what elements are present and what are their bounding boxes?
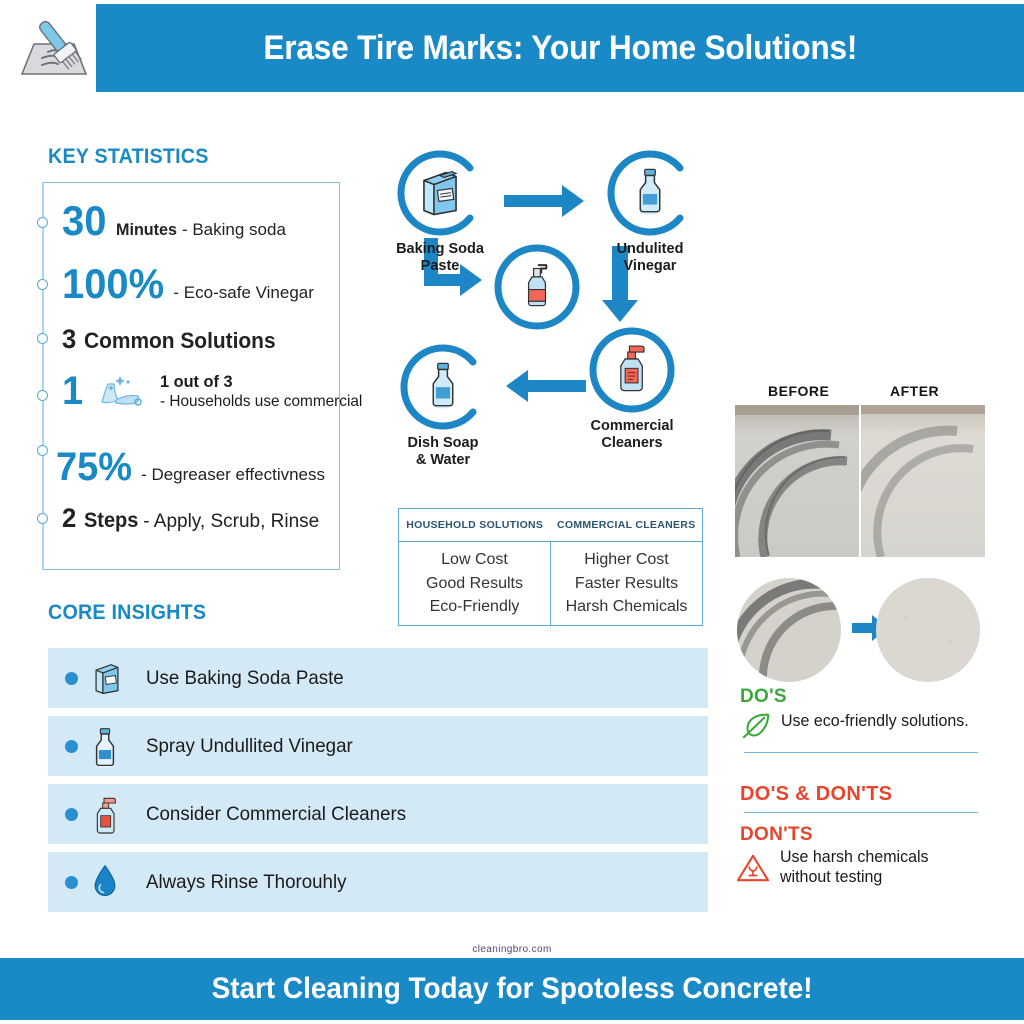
- page-title: Erase Tire Marks: Your Home Solutions!: [263, 29, 857, 68]
- table-cell-commercial: Higher Cost Faster Results Harsh Chemica…: [551, 542, 702, 625]
- stat-suffix: - Degreaser effectivness: [141, 465, 325, 485]
- insight-label: Use Baking Soda Paste: [146, 667, 344, 690]
- circle-after-photo: [876, 578, 980, 682]
- rail-dot: [37, 513, 48, 524]
- table-header-row: HOUSEHOLD SOLUTIONS COMMERCIAL CLEANERS: [399, 509, 702, 542]
- stat-number: 3: [62, 326, 76, 353]
- vinegar-bottle-icon: [92, 726, 126, 766]
- stat-number: 30: [62, 200, 106, 242]
- flow-node-dish-soap-water: Dish Soap & Water: [398, 342, 488, 432]
- stat-label: 1 out of 3: [160, 372, 362, 392]
- stat-suffix: - Baking soda: [182, 220, 286, 240]
- bullet-icon: [65, 672, 78, 685]
- stat-item-common-solutions: 3 Common Solutions: [62, 326, 286, 354]
- warning-triangle-icon: [736, 853, 770, 888]
- key-statistics-heading: KEY STATISTICS: [48, 145, 209, 169]
- sparkle-squeegee-icon: [90, 372, 152, 421]
- divider: [744, 812, 978, 813]
- donts-heading: DON'TS: [740, 824, 813, 846]
- baking-soda-box-icon: [92, 658, 126, 698]
- leaf-icon: [740, 712, 772, 745]
- arrow-baking-soda-to-vinegar: [504, 185, 584, 217]
- baking-soda-box-icon: [418, 165, 462, 222]
- bullet-icon: [65, 876, 78, 889]
- stat-item-degreaser: 75% - Degreaser effectivness: [56, 447, 325, 487]
- process-flow-diagram: Baking Soda Paste Undulite: [380, 140, 710, 470]
- stat-item-eco-safe: 100% - Eco-safe Vinegar: [62, 263, 314, 305]
- header-banner: Erase Tire Marks: Your Home Solutions!: [96, 4, 1024, 92]
- stat-label: Minutes: [116, 220, 177, 240]
- flow-node-label: Dish Soap & Water: [408, 435, 479, 468]
- stat-label: Common Solutions: [84, 328, 276, 354]
- table-cell-household: Low Cost Good Results Eco-Friendly: [399, 542, 551, 625]
- flow-node-undulited-vinegar: Undulited Vinegar: [605, 148, 695, 238]
- flow-node-pump-bottle: [492, 242, 582, 332]
- stat-label: Steps: [84, 509, 138, 533]
- stat-item-minutes: 30 Minutes - Baking soda: [62, 200, 286, 242]
- footer-banner: Start Cleaning Today for Spotoless Concr…: [0, 958, 1024, 1020]
- after-photo: [861, 405, 985, 557]
- footer-cta-text: Start Cleaning Today for Spotoless Concr…: [212, 972, 813, 1006]
- list-item[interactable]: Consider Commercial Cleaners: [48, 784, 708, 844]
- flow-node-label: Undulited Vinegar: [617, 241, 684, 274]
- spray-cleaner-bottle-icon: [92, 794, 126, 834]
- arrow-commercial-to-dish-soap: [506, 370, 586, 402]
- stat-number: 2: [62, 505, 76, 532]
- stat-suffix: - Apply, Scrub, Rinse: [143, 511, 319, 533]
- stat-suffix: - Households use commercial: [160, 393, 362, 411]
- dish-soap-bottle-icon: [428, 360, 458, 415]
- scrub-brush-icon: [8, 10, 94, 84]
- flow-node-label: Baking Soda Paste: [396, 241, 484, 274]
- infographic-page: Erase Tire Marks: Your Home Solutions! K…: [0, 0, 1024, 1024]
- rail-dot: [37, 279, 48, 290]
- stat-item-steps: 2 Steps - Apply, Scrub, Rinse: [62, 505, 319, 533]
- rail-dot: [37, 445, 48, 456]
- insight-label: Spray Undullited Vinegar: [146, 735, 353, 758]
- stat-suffix: - Eco-safe Vinegar: [173, 283, 313, 303]
- stat-number: 1: [62, 372, 83, 410]
- dos-text: Use eco-friendly solutions.: [781, 712, 969, 732]
- list-item[interactable]: Spray Undullited Vinegar: [48, 716, 708, 776]
- stat-number: 75%: [56, 447, 132, 487]
- donts-text: Use harsh chemicals without testing: [780, 848, 929, 888]
- flow-node-baking-soda-paste: Baking Soda Paste: [395, 148, 485, 238]
- stat-item-one-out-of-three: 1 1 out of 3 - Households use commercial: [62, 372, 371, 421]
- divider: [744, 752, 978, 753]
- statistics-timeline-rail: [42, 182, 44, 570]
- list-item[interactable]: Always Rinse Thorouhly: [48, 852, 708, 912]
- insight-label: Consider Commercial Cleaners: [146, 803, 406, 826]
- core-insights-heading: CORE INSIGHTS: [48, 601, 206, 625]
- insight-label: Always Rinse Thorouhly: [146, 871, 346, 894]
- after-label: AFTER: [890, 383, 939, 399]
- water-drop-icon: [92, 862, 126, 902]
- dos-heading: DO'S: [740, 686, 787, 708]
- rail-dot: [37, 390, 48, 401]
- spray-cleaner-bottle-icon: [614, 343, 650, 398]
- rail-dot: [37, 217, 48, 228]
- pump-bottle-icon: [521, 262, 553, 313]
- list-item[interactable]: Use Baking Soda Paste: [48, 648, 708, 708]
- rail-dot: [37, 333, 48, 344]
- circle-before-photo: [737, 578, 841, 682]
- table-body: Low Cost Good Results Eco-Friendly Highe…: [399, 542, 702, 625]
- table-header-commercial: COMMERCIAL CLEANERS: [551, 509, 703, 541]
- stat-number: 100%: [62, 263, 164, 305]
- before-photo: [735, 405, 859, 557]
- dos-donts-section-heading: DO'S & DON'TS: [740, 783, 892, 806]
- bullet-icon: [65, 740, 78, 753]
- vinegar-bottle-icon: [635, 166, 665, 221]
- watermark: cleaningbro.com: [0, 944, 1024, 955]
- flow-node-label: Commercial Cleaners: [590, 418, 673, 451]
- before-label: BEFORE: [768, 383, 829, 399]
- table-header-household: HOUSEHOLD SOLUTIONS: [399, 509, 551, 541]
- flow-node-commercial-cleaners: Commercial Cleaners: [587, 325, 677, 415]
- bullet-icon: [65, 808, 78, 821]
- comparison-table: HOUSEHOLD SOLUTIONS COMMERCIAL CLEANERS …: [398, 508, 703, 626]
